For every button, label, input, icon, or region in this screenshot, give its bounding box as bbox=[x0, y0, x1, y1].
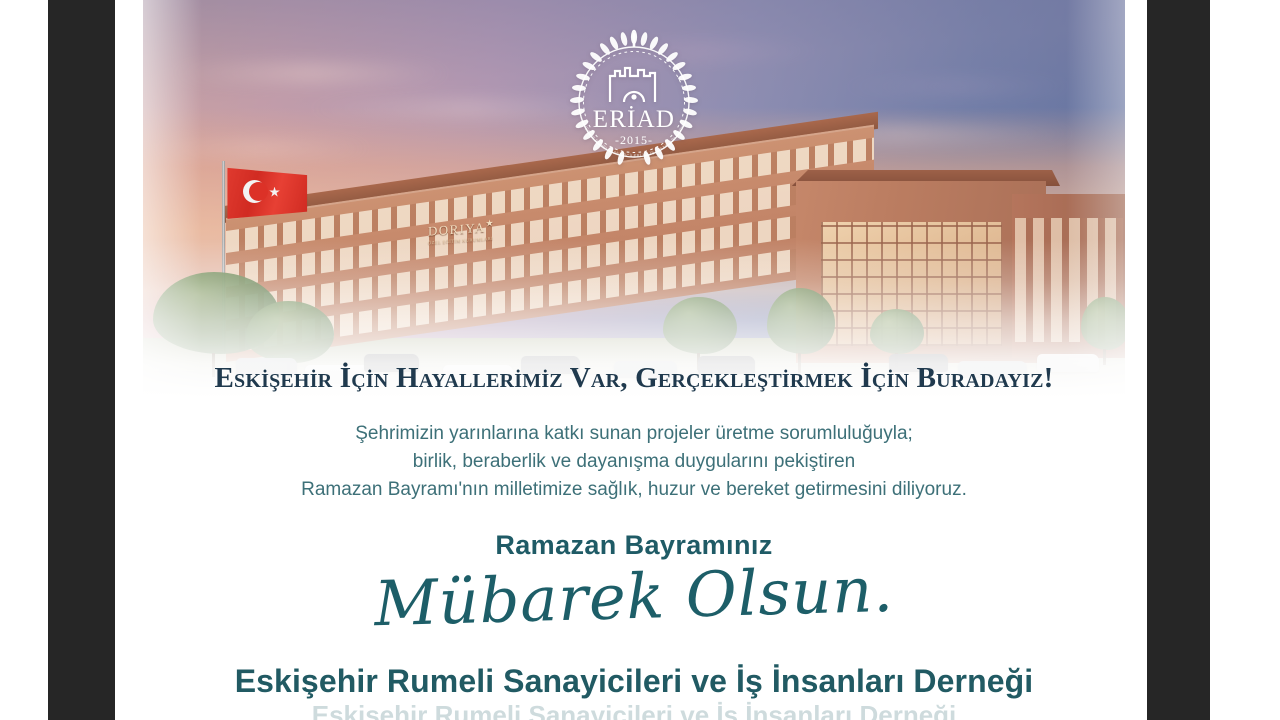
message-line: Şehrimizin yarınlarına katkı sunan proje… bbox=[143, 420, 1125, 448]
logo-year: -2015- bbox=[615, 133, 653, 147]
tree bbox=[1081, 297, 1125, 351]
organization-name: Eskişehir Rumeli Sanayicileri ve İş İnsa… bbox=[143, 663, 1125, 700]
castle-silhouette-icon bbox=[610, 68, 655, 102]
greeting-line-2-script: Mübarek Olsun. bbox=[143, 546, 1125, 646]
message-body: Şehrimizin yarınlarına katkı sunan proje… bbox=[143, 420, 1125, 504]
star-icon: ★ bbox=[485, 218, 494, 229]
right-dark-bar bbox=[1147, 0, 1210, 720]
crescent-icon bbox=[243, 180, 266, 203]
page-root: DORIYA★ ÖZEL EĞİTİM KURUMLARI bbox=[0, 0, 1280, 720]
message-line: birlik, beraberlik ve dayanışma duygular… bbox=[143, 448, 1125, 476]
star-icon bbox=[269, 187, 280, 198]
tree bbox=[663, 297, 737, 355]
turkish-flag-icon bbox=[227, 167, 307, 219]
logo-acronym: ERİAD bbox=[593, 106, 675, 133]
left-dark-bar bbox=[48, 0, 115, 720]
hero-headline: Eskişehir İçin Hayallerimiz Var, Gerçekl… bbox=[143, 362, 1125, 395]
eriad-logo: ERİAD -2015- ESKİŞEHİR RUMELİ SANAYİCİLE… bbox=[558, 26, 710, 178]
tree bbox=[870, 309, 924, 354]
message-line: Ramazan Bayramı'nın milletimize sağlık, … bbox=[143, 476, 1125, 504]
tree bbox=[767, 288, 836, 354]
organization-name-echo: Eskişehir Rumeli Sanayicileri ve İş İnsa… bbox=[143, 700, 1125, 720]
greeting-card: DORIYA★ ÖZEL EĞİTİM KURUMLARI bbox=[143, 0, 1125, 720]
